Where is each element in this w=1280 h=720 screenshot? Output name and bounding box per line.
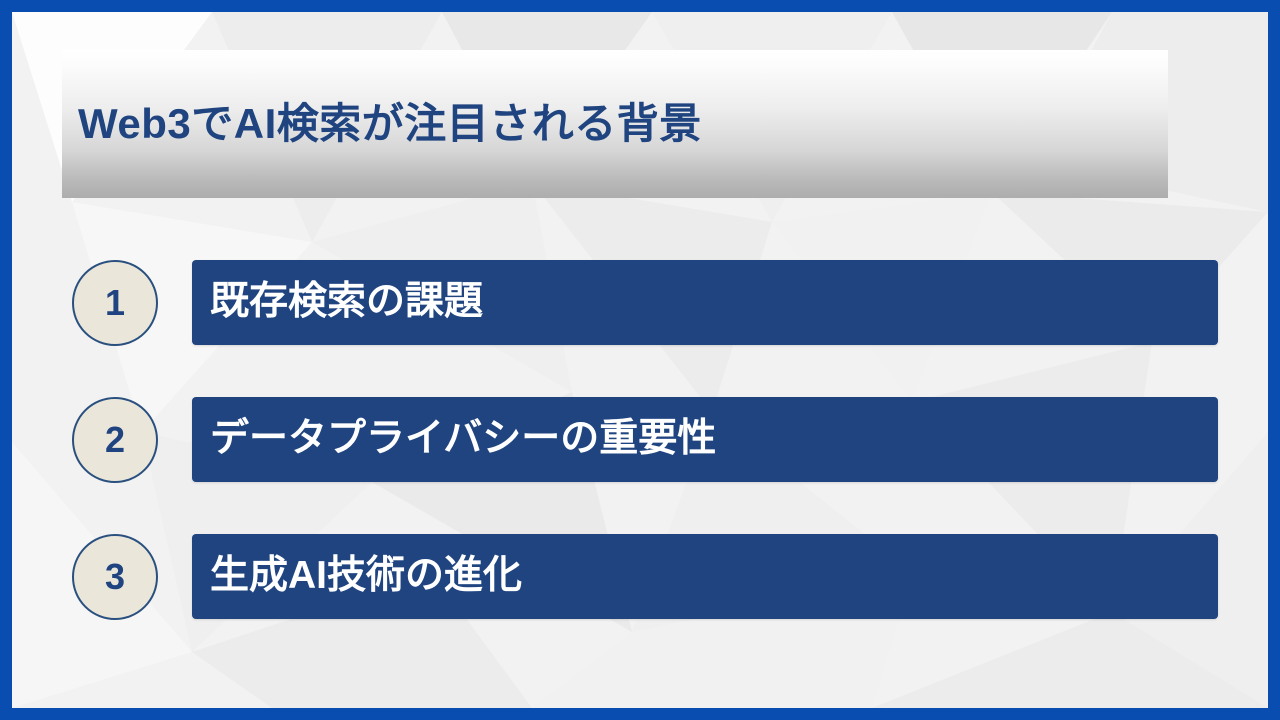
- list-item[interactable]: 1 既存検索の課題: [12, 260, 1268, 345]
- list-item-badge: 3: [72, 534, 158, 620]
- slide-title-bar: Web3でAI検索が注目される背景: [62, 50, 1168, 198]
- numbered-list: 1 既存検索の課題 2 データプライバシーの重要性 3 生成: [12, 260, 1268, 671]
- list-item-number: 1: [105, 285, 125, 321]
- list-item-number: 2: [105, 422, 125, 458]
- list-item[interactable]: 2 データプライバシーの重要性: [12, 397, 1268, 482]
- list-item-number: 3: [105, 559, 125, 595]
- page-title: Web3でAI検索が注目される背景: [62, 101, 702, 147]
- list-item-badge: 1: [72, 260, 158, 346]
- list-item-label: データプライバシーの重要性: [192, 419, 716, 460]
- slide-canvas: Web3でAI検索が注目される背景 1 既存検索の課題 2 データプライバシーの…: [12, 12, 1268, 708]
- list-item-bar[interactable]: データプライバシーの重要性: [192, 397, 1218, 482]
- list-item-bar[interactable]: 既存検索の課題: [192, 260, 1218, 345]
- list-item-bar[interactable]: 生成AI技術の進化: [192, 534, 1218, 619]
- list-item-label: 既存検索の課題: [192, 282, 483, 323]
- list-item-badge: 2: [72, 397, 158, 483]
- slide-frame: Web3でAI検索が注目される背景 1 既存検索の課題 2 データプライバシーの…: [0, 0, 1280, 720]
- list-item[interactable]: 3 生成AI技術の進化: [12, 534, 1268, 619]
- list-item-label: 生成AI技術の進化: [192, 556, 522, 597]
